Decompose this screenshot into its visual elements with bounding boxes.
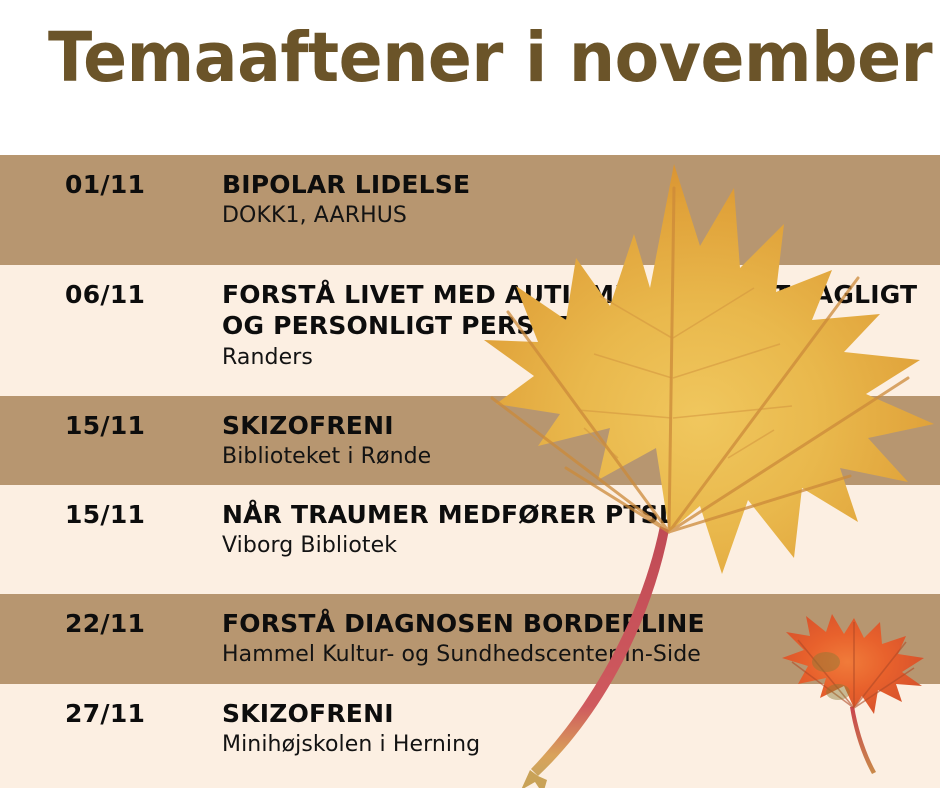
event-title: BIPOLAR LIDELSE: [222, 169, 922, 200]
event-date: 06/11: [0, 279, 222, 311]
event-body: FORSTÅ LIVET MED AUTISME UD FRA ET FAGLI…: [222, 279, 940, 372]
poster-canvas: 01/11 BIPOLAR LIDELSE DOKK1, AARHUS 06/1…: [0, 0, 940, 788]
event-venue: Viborg Bibliotek: [222, 532, 922, 561]
event-title: FORSTÅ DIAGNOSEN BORDERLINE: [222, 608, 922, 639]
list-item[interactable]: 27/11 SKIZOFRENI Minihøjskolen i Herning: [0, 684, 940, 788]
list-item[interactable]: 15/11 NÅR TRAUMER MEDFØRER PTSD Viborg B…: [0, 485, 940, 594]
list-item[interactable]: 22/11 FORSTÅ DIAGNOSEN BORDERLINE Hammel…: [0, 594, 940, 684]
event-date: 01/11: [0, 169, 222, 201]
event-body: NÅR TRAUMER MEDFØRER PTSD Viborg Bibliot…: [222, 499, 940, 561]
event-list: 01/11 BIPOLAR LIDELSE DOKK1, AARHUS 06/1…: [0, 155, 940, 788]
event-venue: Hammel Kultur- og Sundhedscenter In-Side: [222, 641, 922, 670]
event-body: SKIZOFRENI Biblioteket i Rønde: [222, 410, 940, 472]
list-item[interactable]: 01/11 BIPOLAR LIDELSE DOKK1, AARHUS: [0, 155, 940, 265]
event-date: 27/11: [0, 698, 222, 730]
event-body: BIPOLAR LIDELSE DOKK1, AARHUS: [222, 169, 940, 231]
event-date: 15/11: [0, 499, 222, 531]
event-date: 15/11: [0, 410, 222, 442]
event-title: FORSTÅ LIVET MED AUTISME UD FRA ET FAGLI…: [222, 279, 922, 342]
event-body: SKIZOFRENI Minihøjskolen i Herning: [222, 698, 940, 760]
event-title: SKIZOFRENI: [222, 698, 922, 729]
list-item[interactable]: 06/11 FORSTÅ LIVET MED AUTISME UD FRA ET…: [0, 265, 940, 396]
event-venue: DOKK1, AARHUS: [222, 202, 922, 231]
event-date: 22/11: [0, 608, 222, 640]
event-title: SKIZOFRENI: [222, 410, 922, 441]
event-venue: Randers: [222, 344, 922, 373]
event-title: NÅR TRAUMER MEDFØRER PTSD: [222, 499, 922, 530]
title-bar: Temaaftener i november: [0, 0, 940, 155]
event-venue: Biblioteket i Rønde: [222, 443, 922, 472]
list-item[interactable]: 15/11 SKIZOFRENI Biblioteket i Rønde: [0, 396, 940, 485]
event-body: FORSTÅ DIAGNOSEN BORDERLINE Hammel Kultu…: [222, 608, 940, 670]
event-venue: Minihøjskolen i Herning: [222, 731, 922, 760]
page-title: Temaaftener i november: [48, 24, 932, 93]
